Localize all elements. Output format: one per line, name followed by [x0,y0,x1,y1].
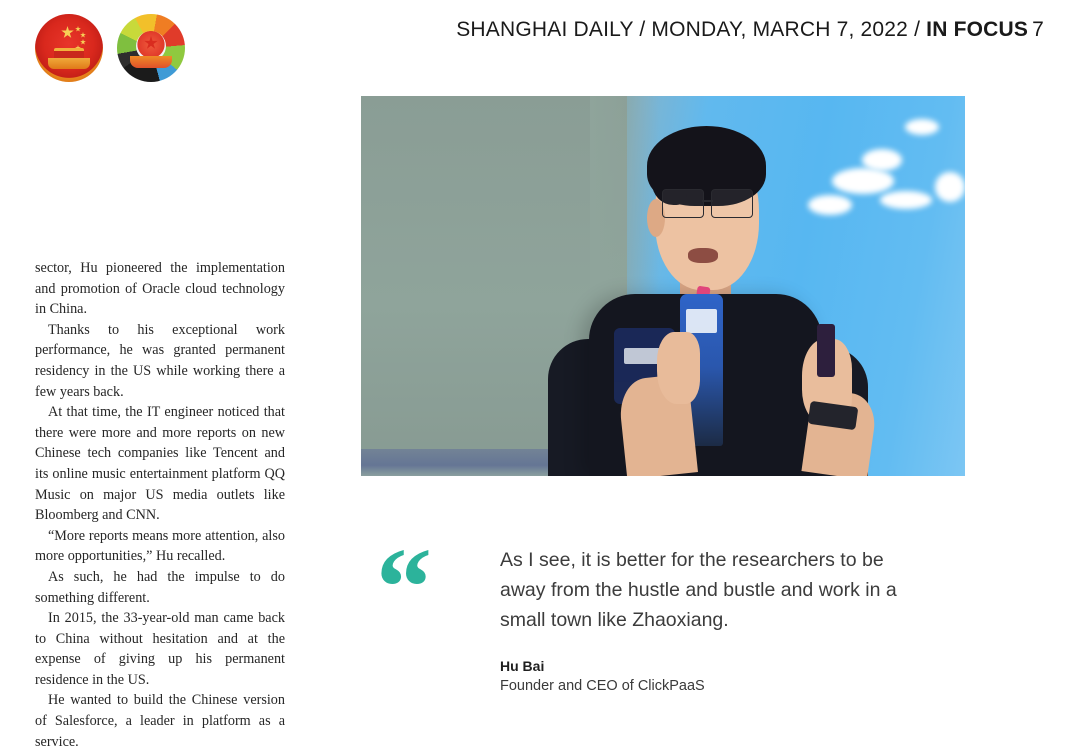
photo-glasses-lens-right [711,189,753,218]
masthead-separator-1: / [633,18,651,41]
attribution-role: Founder and CEO of ClickPaaS [500,676,930,696]
photo-microphone-logo-flag [686,309,717,333]
photo-presentation-clicker [817,324,835,377]
pull-quote-text: As I see, it is better for the researche… [500,545,930,635]
photo-speaker-figure [578,96,832,476]
cppcc-emblem-ribbon [130,56,172,68]
photo-cloud [905,119,939,135]
photo-glasses [662,189,753,216]
photo-mouth [688,248,718,263]
masthead-date: MONDAY, MARCH 7, 2022 [651,18,908,41]
national-emblem-of-china-icon [35,14,103,82]
masthead-page-number: 7 [1032,18,1044,41]
masthead-header-line: SHANGHAI DAILY / MONDAY, MARCH 7, 2022 /… [456,18,1044,42]
article-paragraph: At that time, the IT engineer noticed th… [35,402,285,526]
masthead-section: IN FOCUS [926,18,1028,41]
photo-cloud [935,172,965,202]
article-body-column: sector, Hu pioneered the implementation … [35,258,285,752]
photo-glasses-lens-left [662,189,704,218]
photo-hand-holding-microphone [657,332,700,404]
pull-quote-body: As I see, it is better for the researche… [500,545,930,696]
article-paragraph: “More reports means more attention, also… [35,526,285,567]
masthead-publication: SHANGHAI DAILY [456,18,633,41]
emblem-star-small-1 [75,26,81,32]
emblem-star-small-3 [80,39,86,45]
speaker-photograph [361,96,965,476]
article-paragraph: sector, Hu pioneered the implementation … [35,258,285,320]
quote-mark-icon: “ [376,532,452,644]
emblem-group [35,14,185,82]
emblem-star-small-2 [80,32,86,38]
emblem-base [48,58,90,69]
article-paragraph: Thanks to his exceptional work performan… [35,320,285,402]
article-paragraph: He wanted to build the Chinese version o… [35,690,285,752]
article-paragraph: In 2015, the 33-year-old man came back t… [35,608,285,690]
masthead-separator-2: / [908,18,926,41]
photo-glasses-bridge [702,200,713,202]
emblem-star-large [61,26,74,39]
article-paragraph: As such, he had the impulse to do someth… [35,567,285,608]
attribution-name: Hu Bai [500,657,930,676]
page-masthead: SHANGHAI DAILY / MONDAY, MARCH 7, 2022 /… [0,0,1079,96]
cppcc-emblem-icon [117,14,185,82]
pull-quote-attribution: Hu Bai Founder and CEO of ClickPaaS [500,657,930,696]
